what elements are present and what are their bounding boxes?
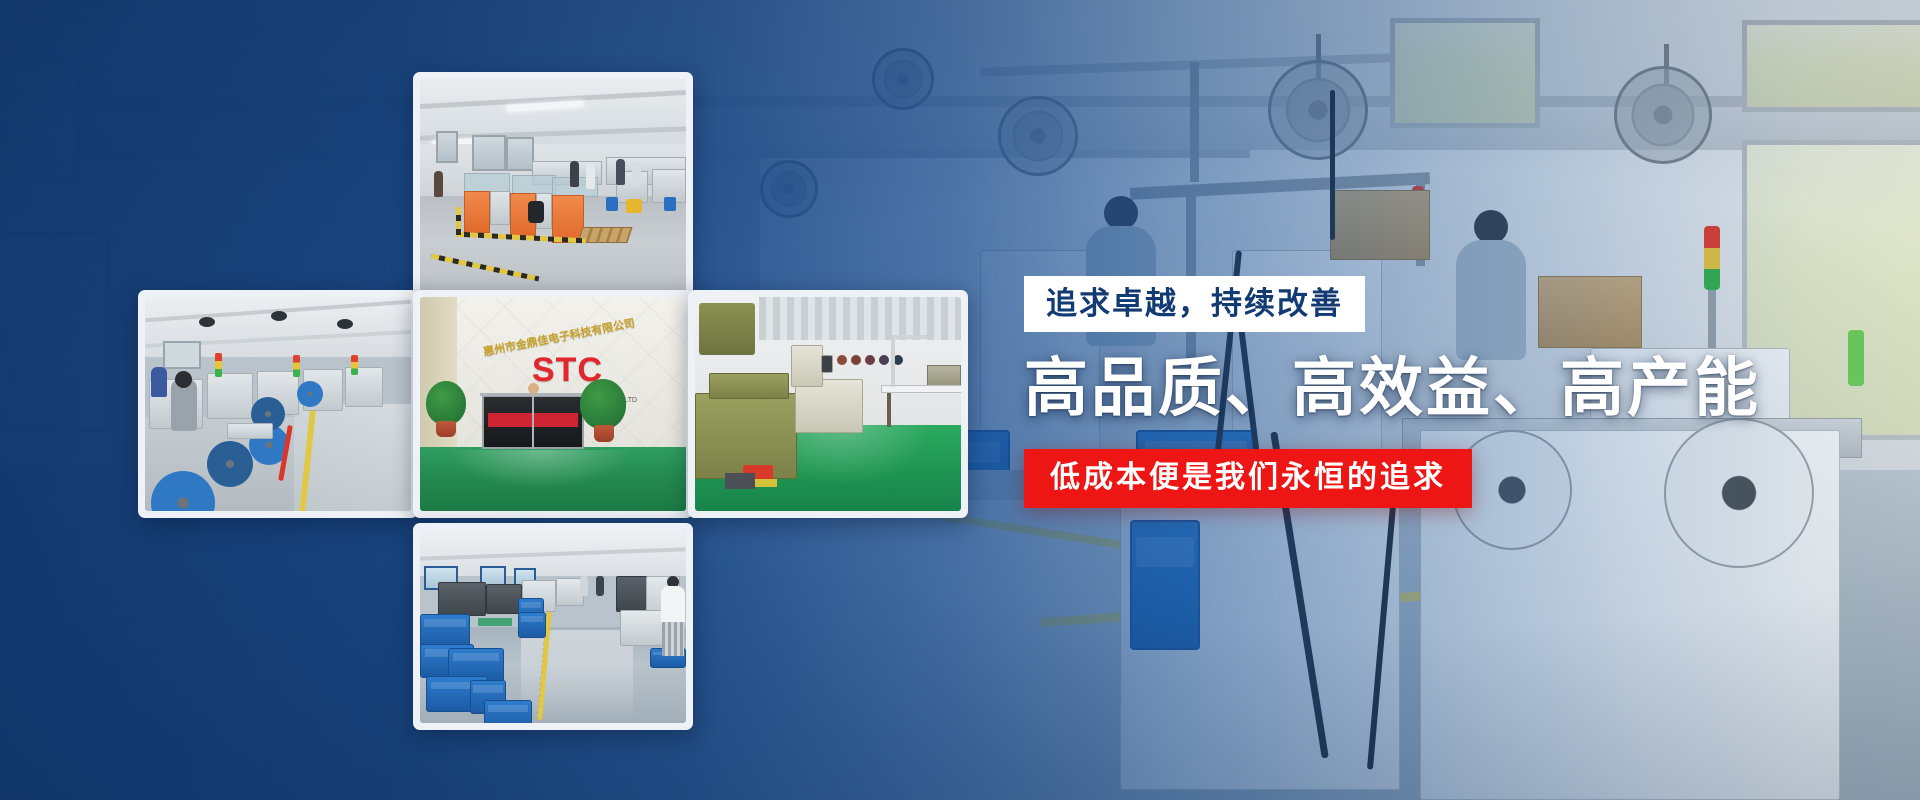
- photo-worker-body: [661, 586, 685, 624]
- photo-window: [163, 341, 201, 369]
- collage-photo-center[interactable]: 惠州市金鼎佳电子科技有限公司 STC CO. LTD: [413, 290, 693, 518]
- photo-plant-pot: [436, 421, 456, 437]
- photo-company-reception: 惠州市金鼎佳电子科技有限公司 STC CO. LTD: [420, 297, 686, 511]
- photo-window: [436, 131, 458, 163]
- photo-booth-glass: [464, 173, 510, 193]
- photo-worker-head: [175, 371, 192, 388]
- photo-machine: [490, 191, 510, 225]
- photo-blue-bin: [518, 612, 546, 638]
- photo-machine-table: [709, 373, 789, 399]
- photo-worker: [596, 576, 604, 596]
- photo-worker-legs: [662, 622, 684, 656]
- photo-machine: [616, 576, 648, 612]
- photo-receptionist: [528, 383, 539, 394]
- photo-machine: [207, 373, 253, 419]
- photo-mill-head: [699, 303, 755, 355]
- photo-corrugated-wall: [759, 297, 961, 340]
- photo-worker: [656, 576, 686, 660]
- photo-yellow-part: [755, 479, 777, 487]
- photo-booth-glass: [512, 175, 556, 195]
- photo-tool-room: [695, 297, 961, 511]
- photo-assembly-aisle: [420, 530, 686, 723]
- photo-andon-tower: [293, 355, 300, 377]
- photo-plant: [580, 379, 626, 429]
- hero-banner: 惠州市金鼎佳电子科技有限公司 STC CO. LTD: [0, 0, 1920, 800]
- photo-andon-tower: [215, 353, 222, 377]
- hero-tagline: 追求卓越，持续改善: [1024, 276, 1365, 332]
- photo-worker: [580, 576, 588, 596]
- photo-lamp: [199, 317, 215, 327]
- photo-reel: [297, 381, 323, 407]
- photo-blue-bin: [420, 614, 470, 648]
- collage-photo-bottom[interactable]: [413, 523, 693, 730]
- photo-reel: [207, 441, 253, 487]
- photo-worker: [570, 161, 579, 187]
- hero-headline: 高品质、高效益、高产能: [1024, 354, 1784, 423]
- photo-floor: [420, 447, 686, 511]
- photo-workshop-orange-booths: [420, 79, 686, 295]
- collage-photo-left[interactable]: [138, 290, 418, 518]
- photo-control-box: [821, 355, 833, 373]
- photo-window: [506, 137, 534, 171]
- photo-lamp-arm: [891, 335, 927, 339]
- photo-machine: [438, 582, 486, 616]
- photo-wall-disc: [851, 355, 861, 365]
- photo-collage: 惠州市金鼎佳电子科技有限公司 STC CO. LTD: [0, 0, 1000, 800]
- photo-worker: [151, 367, 167, 397]
- photo-plant-pot: [594, 425, 614, 442]
- photo-grinder-column: [791, 345, 823, 387]
- photo-chair: [528, 201, 544, 223]
- hero-red-banner: 低成本便是我们永恒的追求: [1024, 449, 1472, 508]
- photo-window: [472, 135, 506, 171]
- photo-orange-booth: [464, 191, 490, 233]
- photo-wall-disc: [837, 355, 847, 365]
- photo-wall-disc: [879, 355, 889, 365]
- photo-tray: [725, 473, 755, 489]
- photo-control-panel: [927, 365, 961, 387]
- collage-photo-top[interactable]: [413, 72, 693, 302]
- photo-lamp-pole: [891, 335, 895, 387]
- photo-floor-marking: [456, 207, 461, 237]
- photo-machine: [486, 584, 522, 614]
- photo-plant: [426, 381, 466, 425]
- photo-blue-bin: [484, 700, 532, 723]
- photo-worker: [434, 171, 443, 197]
- photo-wall-disc: [865, 355, 875, 365]
- photo-bench: [227, 423, 273, 439]
- photo-stool: [606, 197, 618, 211]
- photo-green-mat: [478, 618, 512, 626]
- photo-lamp: [271, 311, 287, 321]
- photo-grinder: [795, 379, 863, 433]
- photo-tool-case: [626, 199, 642, 213]
- photo-andon-tower: [351, 355, 358, 375]
- photo-worker: [616, 159, 625, 185]
- collage-photo-right[interactable]: [688, 290, 968, 518]
- photo-worker: [586, 163, 595, 189]
- photo-smt-production-line: [145, 297, 411, 511]
- photo-lamp: [337, 319, 353, 329]
- photo-desk-divider: [532, 395, 534, 449]
- hero-text-block: 追求卓越，持续改善 高品质、高效益、高产能 低成本便是我们永恒的追求: [1024, 276, 1784, 508]
- photo-worker: [632, 161, 641, 187]
- photo-stool: [664, 197, 676, 211]
- photo-bench-leg: [887, 393, 891, 427]
